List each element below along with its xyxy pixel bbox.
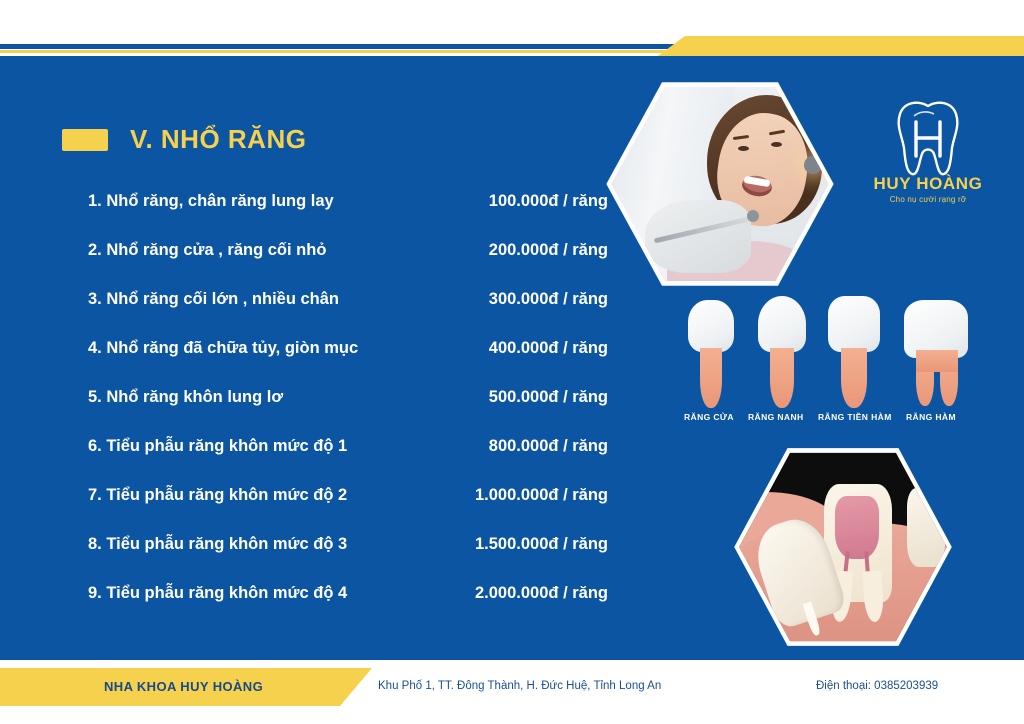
tooth-crown	[688, 300, 734, 352]
price-row: 2. Nhổ răng cửa , răng cối nhỏ 200.000đ …	[88, 241, 608, 290]
service-name: 6. Tiểu phẫu răng khôn mức độ 1	[88, 437, 438, 456]
service-name: 1. Nhổ răng, chân răng lung lay	[88, 192, 438, 211]
service-price: 300.000đ / răng	[438, 290, 608, 309]
section-title: V. NHỔ RĂNG	[62, 124, 306, 155]
tooth-root	[770, 348, 794, 408]
canine-tooth-icon	[758, 296, 806, 408]
clinic-logo: HUY HOÀNG Cho nụ cười rạng rỡ	[858, 100, 998, 210]
tooth-crown	[828, 296, 880, 352]
poster-page: V. NHỔ RĂNG 1. Nhổ răng, chân răng lung …	[0, 0, 1024, 724]
service-name: 5. Nhổ răng khôn lung lơ	[88, 388, 438, 407]
price-row: 9. Tiểu phẫu răng khôn mức độ 4 2.000.00…	[88, 584, 608, 633]
premolar-tooth-icon	[828, 296, 880, 408]
service-name: 2. Nhổ răng cửa , răng cối nhỏ	[88, 241, 438, 260]
service-name: 7. Tiểu phẫu răng khôn mức độ 2	[88, 486, 438, 505]
price-row: 4. Nhổ răng đã chữa tủy, giòn mục 400.00…	[88, 339, 608, 388]
service-price: 200.000đ / răng	[438, 241, 608, 260]
tooth-pulp	[835, 496, 880, 559]
incisor-tooth-icon	[688, 300, 734, 408]
dental-lamp-icon	[804, 156, 822, 174]
top-yellow-band	[655, 36, 1024, 58]
price-list: 1. Nhổ răng, chân răng lung lay 100.000đ…	[88, 192, 608, 633]
top-thin-yellow-line	[0, 50, 700, 53]
tooth-type-labels: RĂNG CỬA RĂNG NANH RĂNG TIỀN HÀM RĂNG HÀ…	[682, 412, 974, 428]
footer-address-text: Khu Phố 1, TT. Đông Thành, H. Đức Huệ, T…	[378, 680, 661, 692]
tooth-root	[700, 348, 722, 408]
logo-name-text: HUY HOÀNG	[858, 174, 998, 194]
service-name: 9. Tiểu phẫu răng khôn mức độ 4	[88, 584, 438, 603]
service-name: 3. Nhổ răng cối lớn , nhiều chân	[88, 290, 438, 309]
tooth-logo-svg	[894, 100, 962, 178]
tooth-type-diagram	[682, 296, 974, 408]
service-name: 4. Nhổ răng đã chữa tủy, giòn mục	[88, 339, 438, 358]
dental-tool-tip	[747, 210, 759, 222]
logo-tagline-text: Cho nụ cười rạng rỡ	[858, 195, 998, 204]
service-price: 100.000đ / răng	[438, 192, 608, 211]
service-name: 8. Tiểu phẫu răng khôn mức độ 3	[88, 535, 438, 554]
service-price: 800.000đ / răng	[438, 437, 608, 456]
service-price: 2.000.000đ / răng	[438, 584, 608, 603]
tooth-label: RĂNG TIỀN HÀM	[818, 412, 892, 422]
tooth-crown	[758, 296, 806, 352]
footer-brand-text: NHA KHOA HUY HOÀNG	[104, 679, 263, 694]
tooth-root	[841, 348, 867, 408]
tooth-with-h-icon	[894, 100, 962, 178]
service-price: 500.000đ / răng	[438, 388, 608, 407]
service-price: 1.000.000đ / răng	[438, 486, 608, 505]
patient-eye	[738, 146, 749, 151]
top-thin-blue-band	[0, 44, 700, 49]
price-row: 3. Nhổ răng cối lớn , nhiều chân 300.000…	[88, 290, 608, 339]
tooth-label: RĂNG HÀM	[906, 412, 956, 422]
patient-eye	[771, 142, 782, 147]
service-price: 400.000đ / răng	[438, 339, 608, 358]
title-marker-icon	[62, 129, 108, 151]
tooth-label: RĂNG CỬA	[684, 412, 734, 422]
service-price: 1.500.000đ / răng	[438, 535, 608, 554]
footer-phone-text: Điện thoại: 0385203939	[816, 680, 938, 692]
tooth-root-base	[916, 350, 958, 372]
section-title-text: V. NHỔ RĂNG	[130, 124, 306, 155]
price-row: 6. Tiểu phẫu răng khôn mức độ 1 800.000đ…	[88, 437, 608, 486]
price-row: 8. Tiểu phẫu răng khôn mức độ 3 1.500.00…	[88, 535, 608, 584]
price-row: 7. Tiểu phẫu răng khôn mức độ 2 1.000.00…	[88, 486, 608, 535]
molar-tooth-icon	[904, 300, 968, 408]
price-row: 1. Nhổ răng, chân răng lung lay 100.000đ…	[88, 192, 608, 241]
price-row: 5. Nhổ răng khôn lung lơ 500.000đ / răng	[88, 388, 608, 437]
tooth-label: RĂNG NANH	[748, 412, 804, 422]
